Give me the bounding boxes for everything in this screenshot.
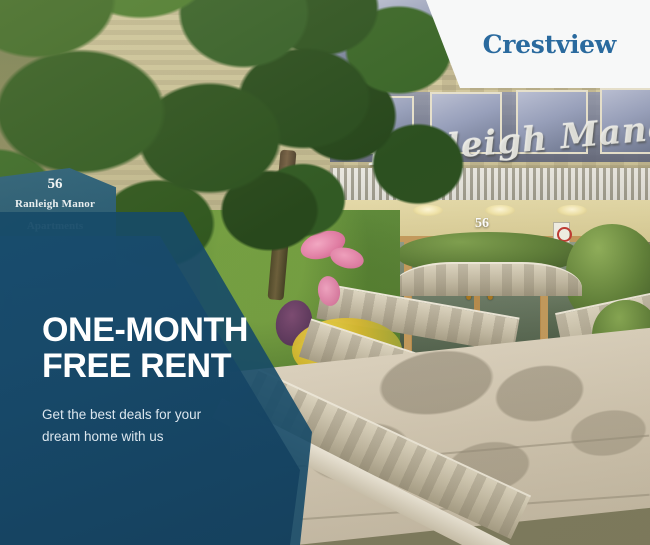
property-sign-name: Ranleigh Manor — [0, 198, 116, 210]
subcopy-line-2: dream home with us — [42, 426, 242, 448]
headline-line-1: ONE-MONTH — [42, 311, 248, 349]
headline-line-2: FREE RENT — [42, 348, 292, 384]
promo-poster: Ranleigh Manor 56 — [0, 0, 650, 545]
promo-subcopy: Get the best deals for your dream home w… — [42, 404, 242, 448]
brand-wordmark: Crestview — [483, 30, 616, 59]
promo-headline: ONE-MONTH FREE RENT — [42, 312, 292, 385]
subcopy-line-1: Get the best deals for your — [42, 407, 201, 422]
stone-planter-wall — [392, 262, 582, 296]
soffit-light — [557, 205, 587, 216]
